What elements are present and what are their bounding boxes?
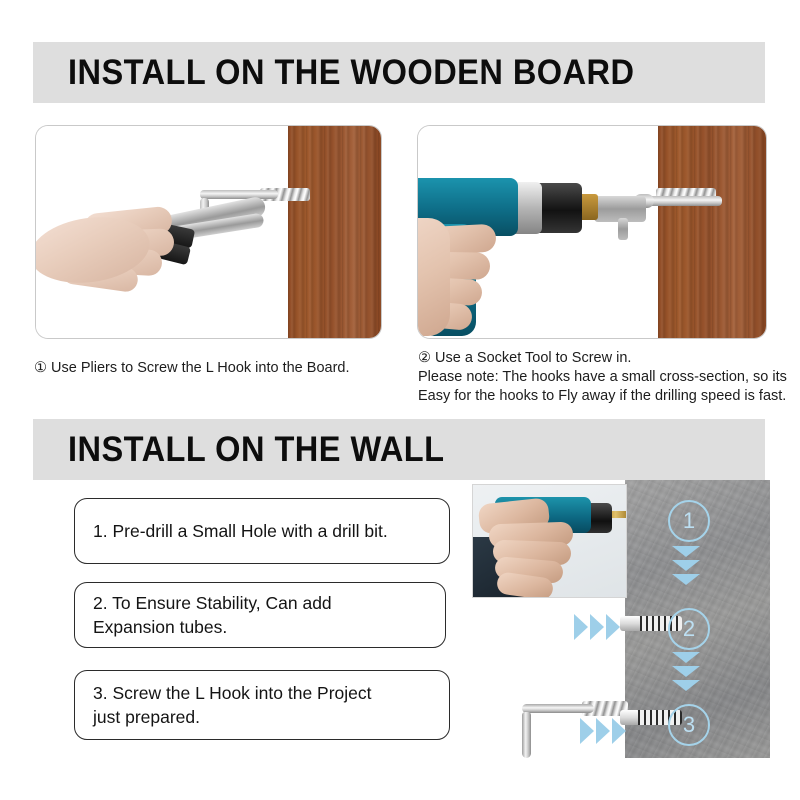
section-header-wooden-board: INSTALL ON THE WOODEN BOARD — [33, 42, 765, 103]
wall-installation-illustration: 1 2 3 — [470, 480, 770, 758]
caption-step-2-line-3: Easy for the hooks to Fly away if the dr… — [418, 387, 788, 406]
step-box-3: 3. Screw the L Hook into the Project jus… — [74, 670, 450, 740]
hand-palm — [418, 218, 450, 336]
section-header-wall: INSTALL ON THE WALL — [33, 419, 765, 480]
section-title-wooden-board: INSTALL ON THE WOODEN BOARD — [68, 53, 635, 93]
l-hook-leg-icon — [522, 712, 531, 758]
arrow-down-icon-2 — [672, 652, 706, 698]
wooden-board — [288, 126, 381, 338]
step-box-2-text: 2. To Ensure Stability, Can add Expansio… — [75, 591, 346, 639]
step-box-3-text: 3. Screw the L Hook into the Project jus… — [75, 681, 386, 729]
drill-photo-inset — [473, 485, 626, 597]
expansion-tube-body — [620, 710, 640, 725]
photo-panel-pliers — [36, 126, 381, 338]
caption-step-2-line-1: ② Use a Socket Tool to Screw in. — [418, 349, 788, 368]
l-hook-shaft-icon — [522, 704, 594, 713]
step-box-1: 1. Pre-drill a Small Hole with a drill b… — [74, 498, 450, 564]
caption-step-1-text: ① Use Pliers to Screw the L Hook into th… — [34, 359, 414, 378]
step-box-2: 2. To Ensure Stability, Can add Expansio… — [74, 582, 446, 648]
arrow-right-icon-step-2 — [574, 614, 624, 642]
wall-step-marker-3: 3 — [668, 704, 710, 746]
wall-step-marker-2: 2 — [668, 608, 710, 650]
infographic-page: INSTALL ON THE WOODEN BOARD — [0, 0, 800, 800]
section-title-wall: INSTALL ON THE WALL — [68, 430, 445, 470]
wooden-board — [658, 126, 766, 338]
caption-step-2-line-2: Please note: The hooks have a small cros… — [418, 368, 788, 387]
step-box-1-text: 1. Pre-drill a Small Hole with a drill b… — [75, 519, 402, 543]
caption-step-2: ② Use a Socket Tool to Screw in. Please … — [418, 349, 788, 406]
caption-step-1: ① Use Pliers to Screw the L Hook into th… — [34, 359, 414, 378]
arrow-down-icon-1 — [672, 546, 706, 592]
socket-tool-pin-icon — [618, 218, 628, 240]
photo-panel-drill — [418, 126, 766, 338]
expansion-tube-body — [620, 616, 642, 631]
l-hook-shaft-icon — [200, 190, 278, 199]
wall-step-marker-1: 1 — [668, 500, 710, 542]
